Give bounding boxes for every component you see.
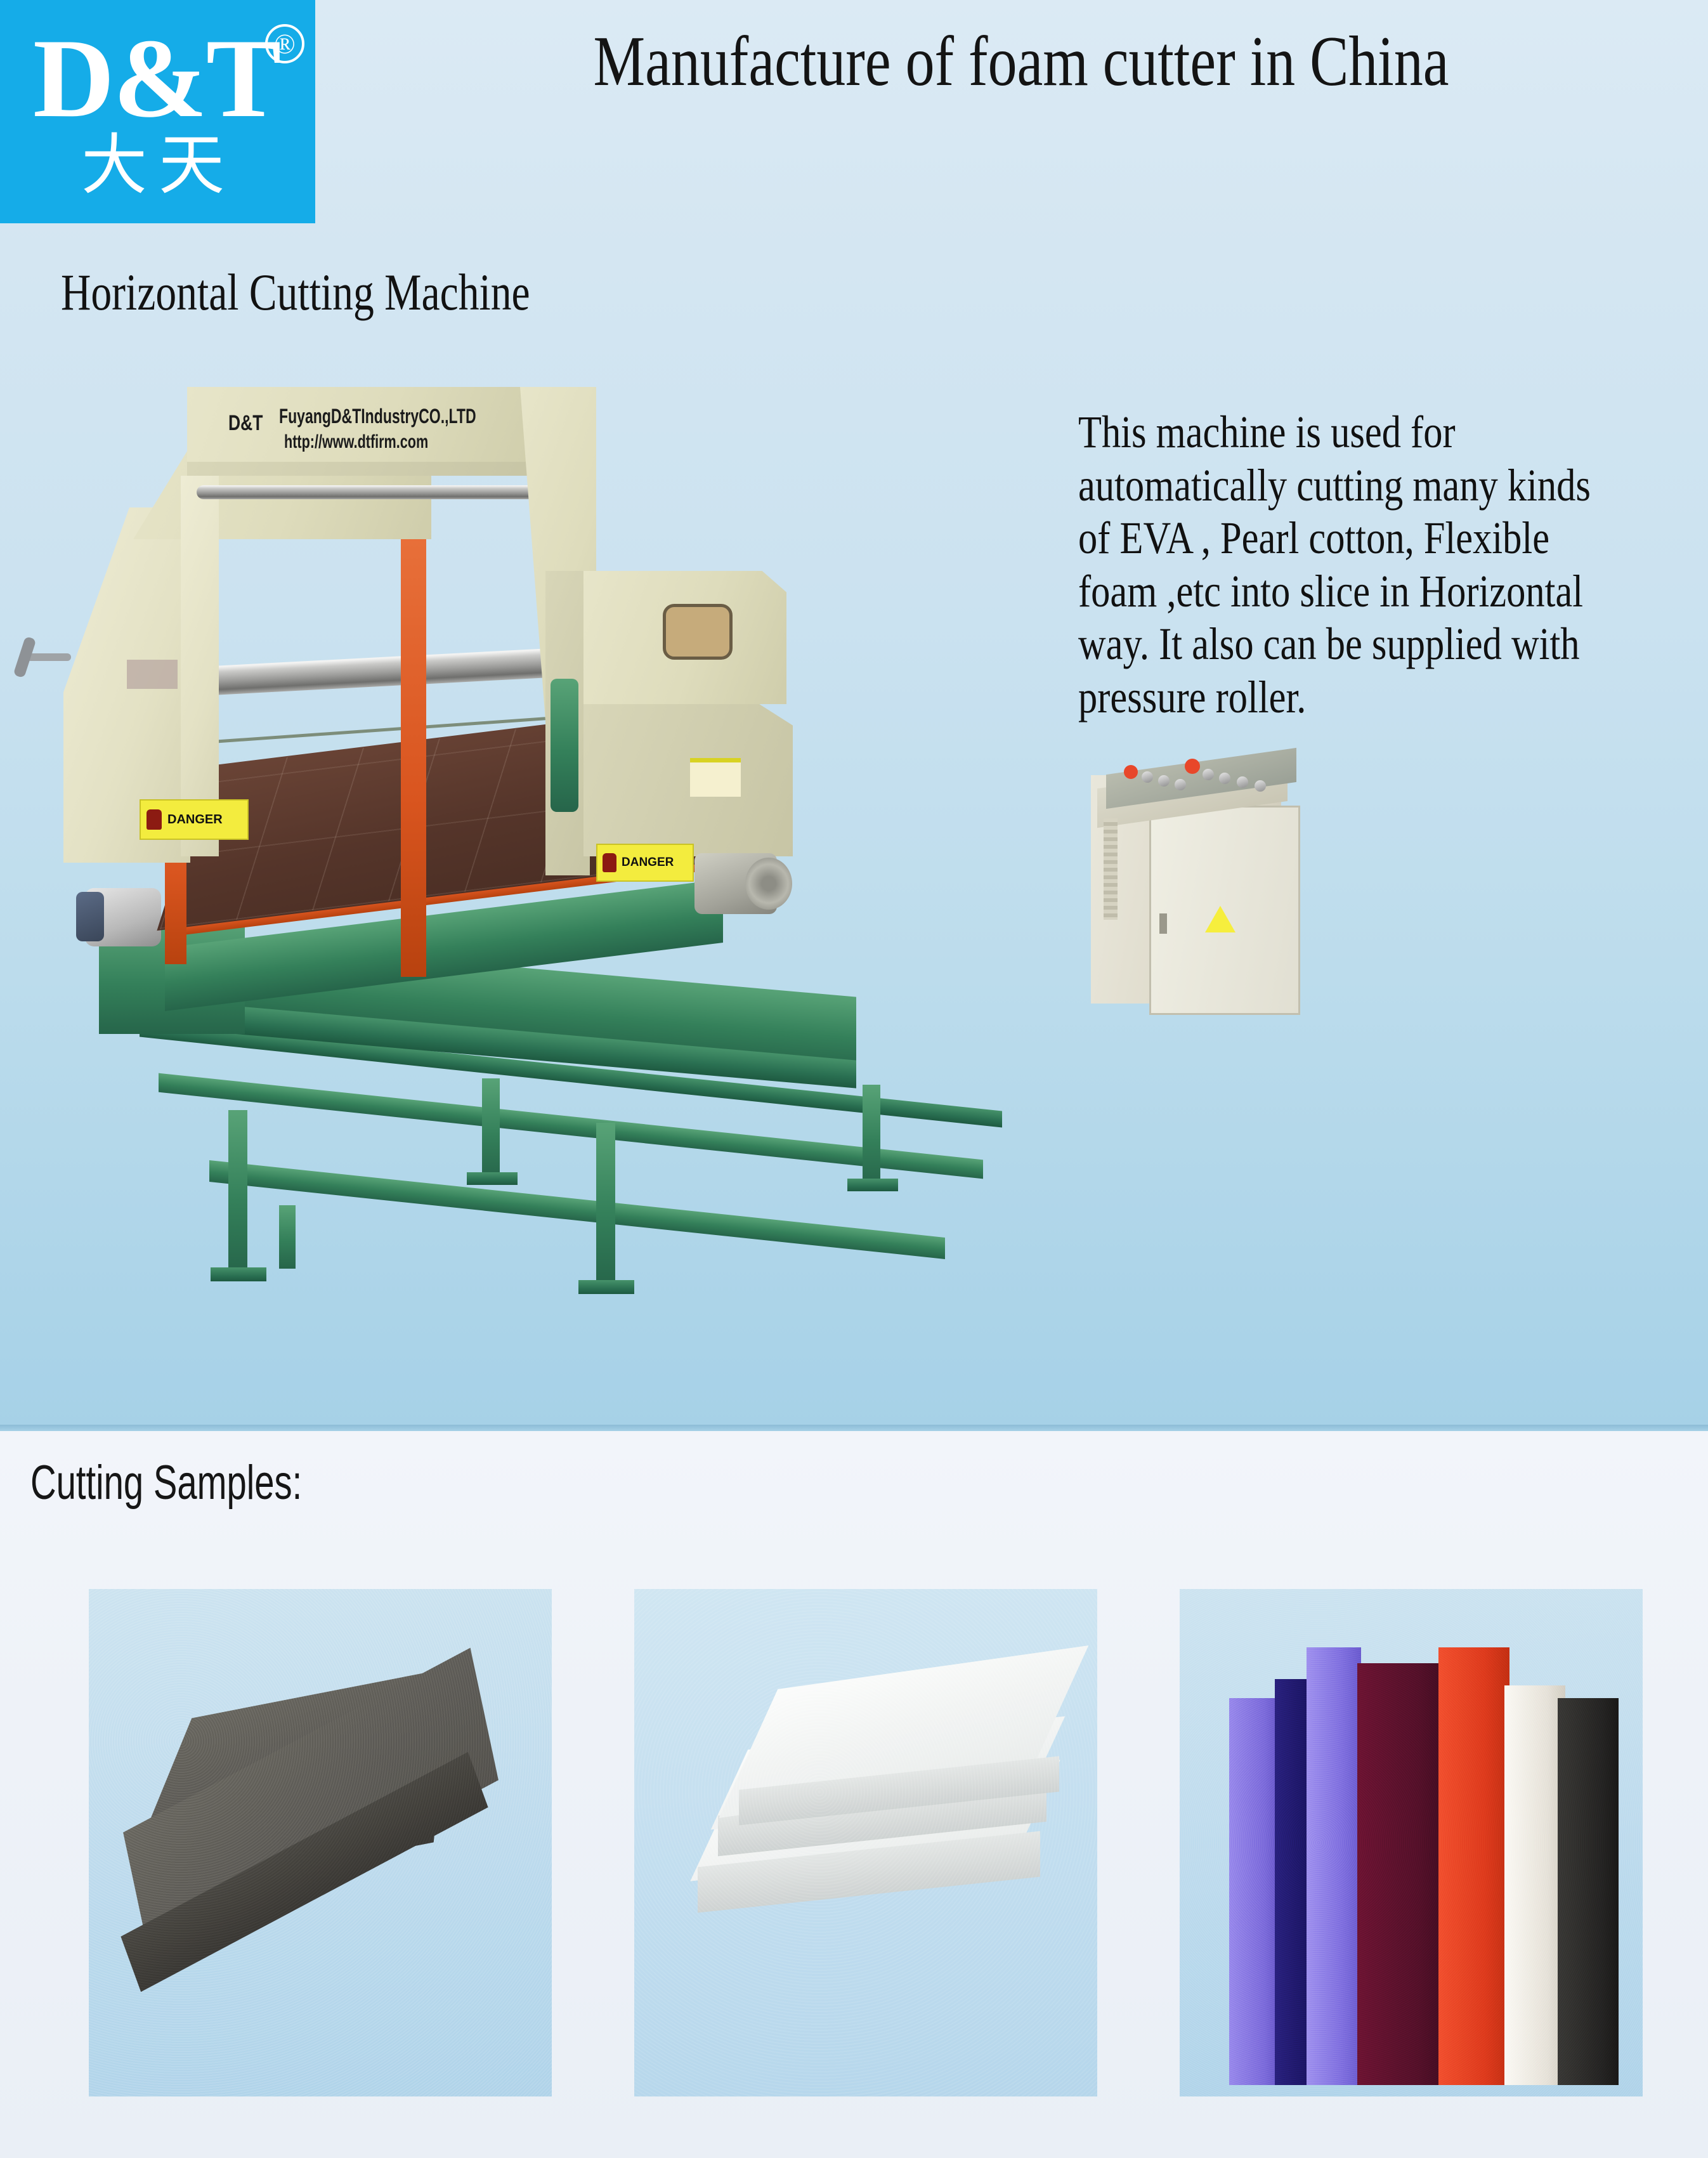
emergency-stop-button-1[interactable]: [1124, 765, 1138, 779]
blade-column-left: [401, 533, 426, 977]
blade-motor-fan: [745, 858, 792, 910]
specification-label: [690, 758, 741, 797]
machine-decal-url: http://www.dtfirm.com: [284, 431, 428, 453]
logo-chinese-name: 大天: [81, 132, 236, 198]
machine-decal-brand: D&T: [228, 411, 263, 436]
eva-texture-overlay: [1180, 1589, 1643, 2096]
control-knob-3[interactable]: [1175, 779, 1186, 790]
motor-fan-cover: [76, 892, 104, 941]
registered-trademark-icon: ®: [265, 24, 304, 63]
base-leg-2: [482, 1078, 500, 1180]
upper-guide-rail: [197, 485, 539, 499]
control-knob-5[interactable]: [1219, 773, 1230, 784]
control-knob-6[interactable]: [1237, 776, 1248, 788]
foam-texture-overlay: [89, 1589, 552, 2096]
base-leg-1: [228, 1110, 247, 1275]
base-foot-2: [467, 1172, 518, 1185]
sample-photo-grey-foam: [89, 1589, 552, 2096]
logo-wordmark: D&T: [33, 22, 280, 134]
cutting-samples-heading: Cutting Samples:: [30, 1459, 302, 1507]
cabinet-door-lock[interactable]: [1159, 913, 1167, 934]
machine-photo: D&T FuyangD&TIndustryCO.,LTD http://www.…: [38, 381, 1078, 1408]
base-foot-4: [847, 1179, 898, 1191]
cabinet-vent-louvres: [1104, 818, 1118, 920]
base-rail-outer: [209, 1160, 945, 1259]
base-foot-1: [211, 1267, 266, 1281]
inspection-window: [663, 604, 733, 660]
sample-photo-colored-eva: [1180, 1589, 1643, 2096]
control-knob-4[interactable]: [1203, 769, 1214, 780]
nameplate-label: [127, 660, 178, 689]
blade-head-lower-housing: [583, 704, 793, 856]
product-name-heading: Horizontal Cutting Machine: [61, 266, 530, 318]
base-rail-mid: [159, 1073, 983, 1179]
danger-label-text-left: DANGER: [167, 813, 223, 827]
product-description: This machine is used for automatically c…: [1078, 406, 1606, 724]
base-leg-4: [863, 1085, 880, 1186]
danger-label-left: DANGER: [140, 799, 249, 840]
machine-decal-company: FuyangD&TIndustryCO.,LTD: [279, 405, 476, 428]
danger-label-head: DANGER: [596, 844, 694, 882]
control-knob-7[interactable]: [1255, 780, 1266, 792]
control-knob-2[interactable]: [1158, 775, 1170, 787]
tension-handle-shaft: [27, 653, 71, 661]
electrical-hazard-icon: [1205, 906, 1235, 932]
sample-photo-white-epe: [634, 1589, 1097, 2096]
frame-top-beam-underside: [187, 462, 542, 476]
base-leg-5: [279, 1205, 296, 1269]
control-cabinet: [1078, 729, 1345, 1047]
hand-warning-icon-left: [147, 809, 162, 830]
flyer-page: D&T ® 大天 Manufacture of foam cutter in C…: [0, 0, 1708, 2158]
danger-label-text-head: DANGER: [622, 856, 674, 870]
page-title: Manufacture of foam cutter in China: [527, 23, 1515, 101]
emergency-stop-button-2[interactable]: [1185, 759, 1200, 774]
company-logo: D&T ® 大天: [0, 0, 315, 223]
base-leg-3: [596, 1123, 615, 1288]
base-foot-3: [578, 1280, 634, 1294]
control-knob-1[interactable]: [1142, 771, 1153, 783]
hydraulic-cylinder: [551, 679, 578, 812]
hand-warning-icon: [603, 853, 616, 872]
samples-gallery: [0, 1589, 1708, 2096]
epe-texture-overlay: [634, 1589, 1097, 2096]
